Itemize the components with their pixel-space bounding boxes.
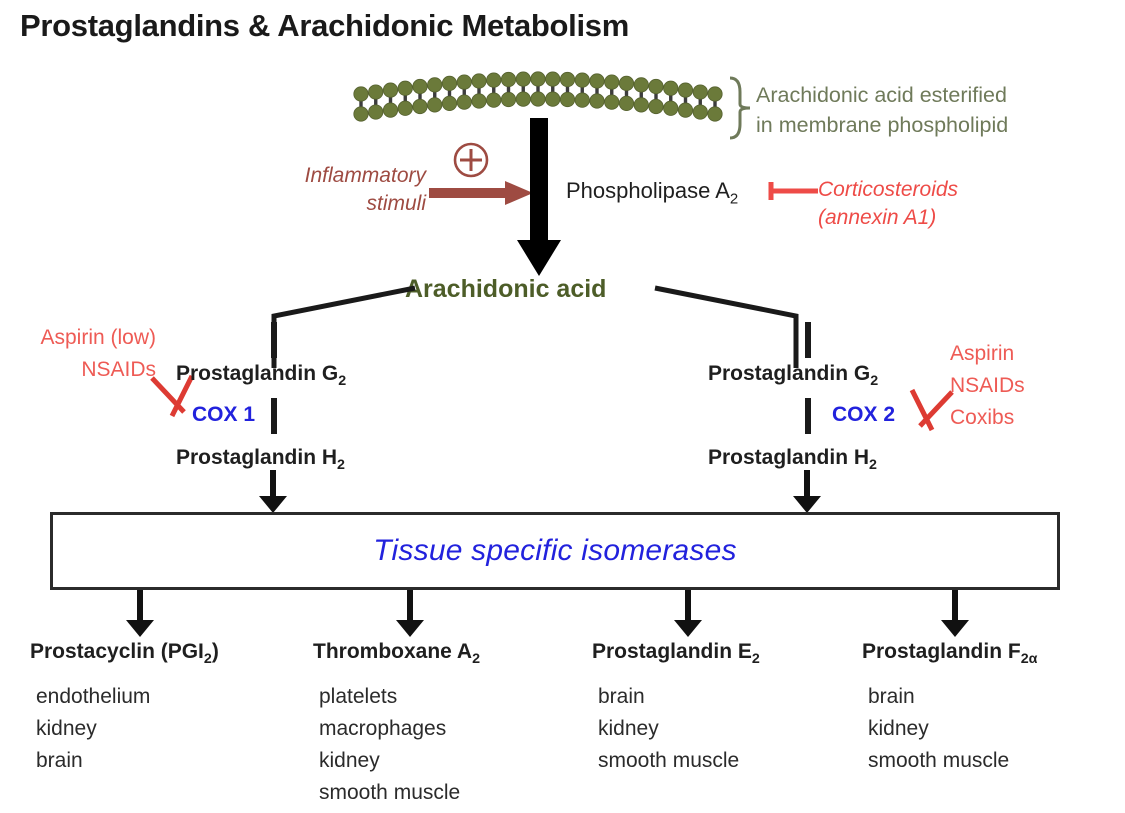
pgg2-right-subscript: 2 (870, 373, 878, 389)
list-item: smooth muscle (598, 745, 760, 777)
pgg2-left-label: Prostaglandin G2 (176, 362, 346, 389)
list-item: kidney (319, 745, 480, 777)
inflammatory-stimuli-line2: stimuli (258, 190, 426, 218)
product-column-pge2: Prostaglandin E2 brain kidney smooth mus… (592, 640, 760, 777)
cox2-inhibitor-0: Aspirin (950, 338, 1120, 370)
page-title: Prostaglandins & Arachidonic Metabolism (20, 8, 629, 44)
branch-lines-icon (255, 280, 815, 370)
phospholipase-a2-label: Phospholipase A2 (566, 178, 738, 207)
product-1-tissue-list: platelets macrophages kidney smooth musc… (319, 681, 480, 809)
phospholipase-a2-name: Phospholipase A (566, 178, 730, 203)
list-item: smooth muscle (319, 777, 480, 809)
tissue-specific-isomerases-box: Tissue specific isomerases (50, 512, 1060, 590)
pgh2-right-down-arrow-icon (787, 470, 827, 514)
cox2-inhibitor-1: NSAIDs (950, 370, 1120, 402)
product-0-title: Prostacyclin (PGI2) (30, 640, 219, 667)
product-2-down-arrow-icon (671, 590, 705, 638)
product-3-name: Prostaglandin F (862, 640, 1021, 663)
product-1-name: Thromboxane A (313, 640, 472, 663)
pgh2-left-name: Prostaglandin H (176, 446, 337, 469)
product-0-name-tail: ) (212, 640, 219, 663)
cox2-inhibitor-2: Coxibs (950, 402, 1120, 434)
list-item: brain (598, 681, 760, 713)
product-2-tissue-list: brain kidney smooth muscle (598, 681, 760, 777)
cox1-inhibitors: Aspirin (low) NSAIDs (4, 322, 156, 386)
product-2-title: Prostaglandin E2 (592, 640, 760, 667)
cox2-enzyme-label: COX 2 (832, 403, 895, 427)
corticosteroids-label: Corticosteroids (annexin A1) (818, 176, 958, 232)
pgg2-left-subscript: 2 (338, 373, 346, 389)
product-1-title: Thromboxane A2 (313, 640, 480, 667)
cox1-inhibitor-1: NSAIDs (4, 354, 156, 386)
cox1-inhibitor-0: Aspirin (low) (4, 322, 156, 354)
product-2-name: Prostaglandin E (592, 640, 752, 663)
list-item: platelets (319, 681, 480, 713)
product-column-pgf2a: Prostaglandin F2α brain kidney smooth mu… (862, 640, 1037, 777)
membrane-caption-line2: in membrane phospholipid (756, 110, 1008, 140)
diagram-canvas: Prostaglandins & Arachidonic Metabolism … (0, 0, 1125, 813)
list-item: kidney (36, 713, 219, 745)
pgg2-right-label: Prostaglandin G2 (708, 362, 878, 389)
product-0-down-arrow-icon (123, 590, 157, 638)
list-item: smooth muscle (868, 745, 1037, 777)
pgh2-right-name: Prostaglandin H (708, 446, 869, 469)
product-column-prostacyclin: Prostacyclin (PGI2) endothelium kidney b… (30, 640, 219, 777)
list-item: kidney (598, 713, 760, 745)
membrane-caption: Arachidonic acid esterified in membrane … (756, 80, 1008, 140)
membrane-caption-line1: Arachidonic acid esterified (756, 80, 1008, 110)
inflammatory-stimuli-line1: Inflammatory (258, 162, 426, 190)
cox1-enzyme-label: COX 1 (192, 403, 255, 427)
cox2-inhibitors: Aspirin NSAIDs Coxibs (950, 338, 1120, 434)
list-item: brain (36, 745, 219, 777)
product-3-tissue-list: brain kidney smooth muscle (868, 681, 1037, 777)
cox1-connector-lower (271, 398, 277, 434)
list-item: kidney (868, 713, 1037, 745)
product-3-subscript: 2α (1021, 651, 1038, 667)
list-item: macrophages (319, 713, 480, 745)
corticosteroid-inhibition-bar-icon (768, 180, 820, 202)
corticosteroids-line2: (annexin A1) (818, 204, 958, 232)
product-3-down-arrow-icon (938, 590, 972, 638)
tissue-specific-isomerases-label: Tissue specific isomerases (373, 534, 736, 568)
cox1-connector-upper (271, 322, 277, 358)
product-3-title: Prostaglandin F2α (862, 640, 1037, 667)
product-0-tissue-list: endothelium kidney brain (36, 681, 219, 777)
pgh2-left-subscript: 2 (337, 457, 345, 473)
product-0-name: Prostacyclin (PGI (30, 640, 204, 663)
thick-down-arrow-icon (515, 118, 563, 278)
inflammatory-stimuli-label: Inflammatory stimuli (258, 162, 426, 218)
pgg2-right-name: Prostaglandin G (708, 362, 870, 385)
cox2-inhibition-bar-icon (908, 386, 954, 434)
cox2-connector-lower (805, 398, 811, 434)
pgh2-right-subscript: 2 (869, 457, 877, 473)
list-item: brain (868, 681, 1037, 713)
pgh2-left-down-arrow-icon (253, 470, 293, 514)
circle-plus-icon (451, 140, 491, 180)
product-0-subscript: 2 (204, 651, 212, 667)
pgg2-left-name: Prostaglandin G (176, 362, 338, 385)
corticosteroids-line1: Corticosteroids (818, 176, 958, 204)
product-1-down-arrow-icon (393, 590, 427, 638)
product-column-thromboxane: Thromboxane A2 platelets macrophages kid… (313, 640, 480, 809)
phospholipase-a2-subscript: 2 (730, 190, 738, 207)
curly-brace-icon (726, 76, 752, 140)
product-1-subscript: 2 (472, 651, 480, 667)
list-item: endothelium (36, 681, 219, 713)
cox2-connector-upper (805, 322, 811, 358)
product-2-subscript: 2 (752, 651, 760, 667)
